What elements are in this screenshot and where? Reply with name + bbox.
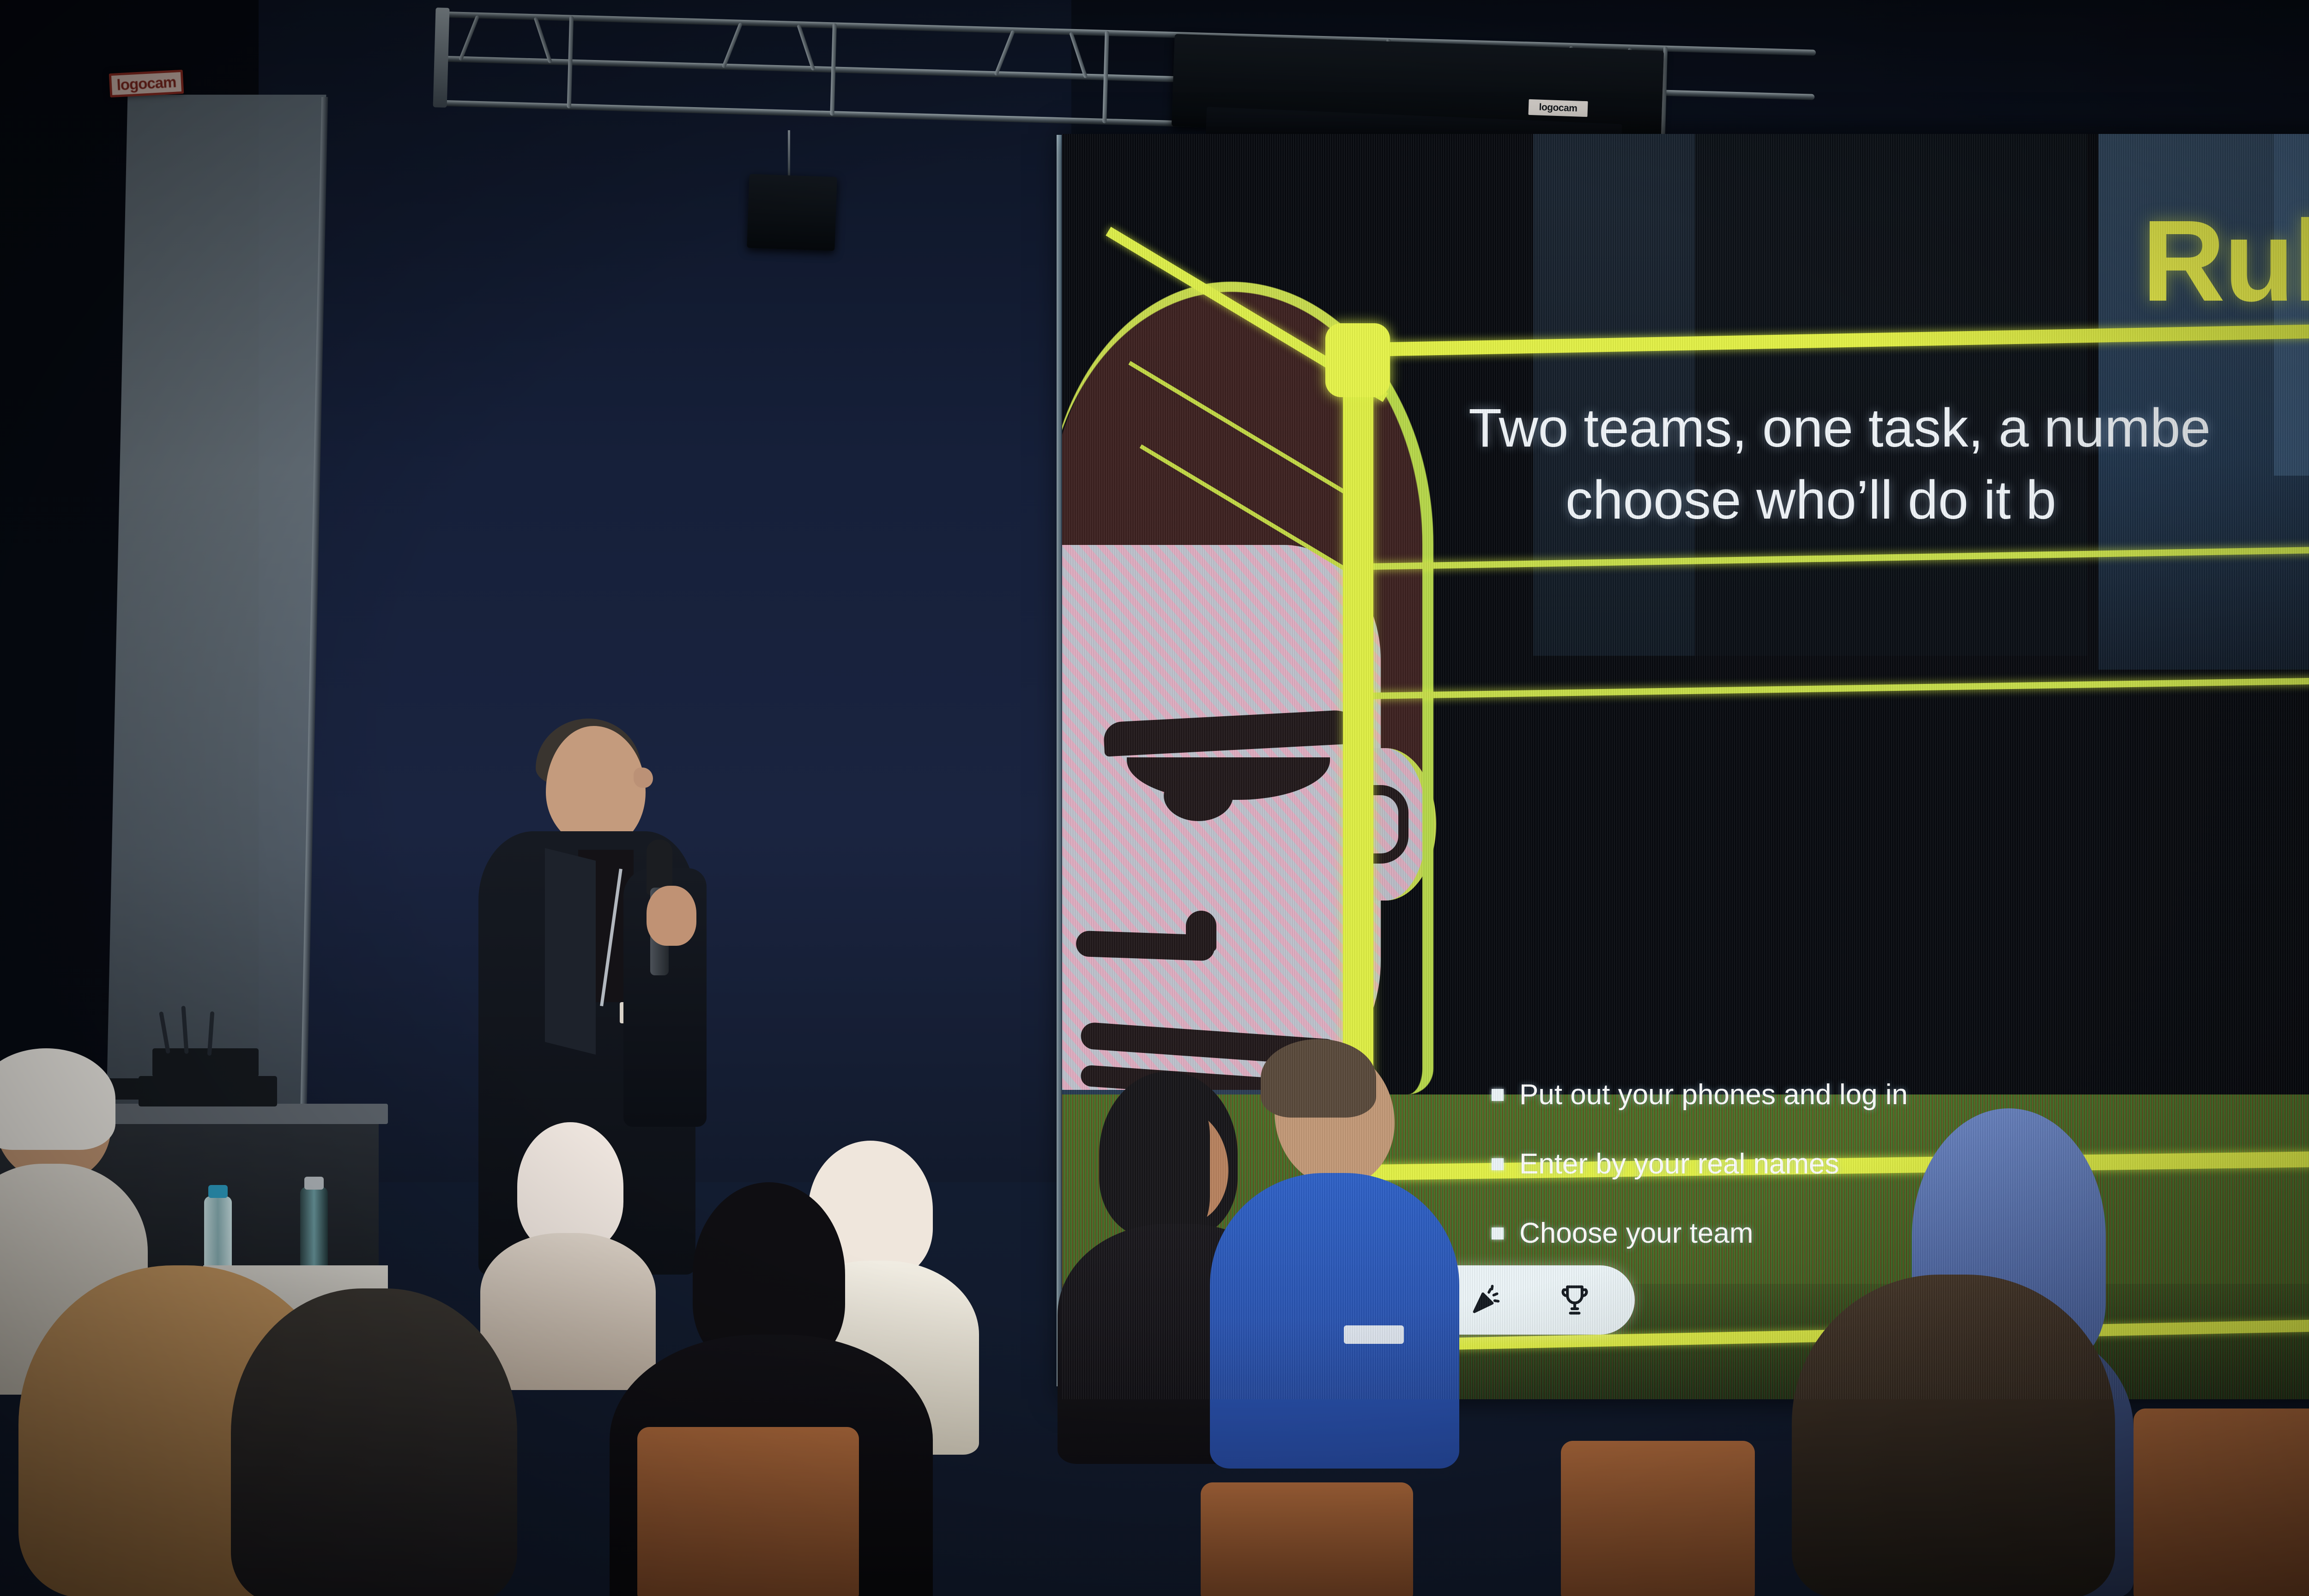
truss-diagonal [533, 17, 552, 63]
auditorium-chair [637, 1427, 859, 1596]
presenter-lapel [545, 848, 596, 1054]
auditorium-chair [1201, 1482, 1413, 1596]
keffiyeh-headwear [0, 1048, 115, 1150]
light-hanger [788, 130, 790, 181]
auditorium-chair [2134, 1409, 2309, 1596]
slide-subtitle-line-1: Two teams, one task, a numbe [1469, 398, 2211, 459]
hoodie-logo [1344, 1325, 1404, 1344]
truss-diagonal [797, 24, 815, 71]
ring-rope-top [1367, 323, 2309, 357]
bullet-square-icon [1492, 1158, 1504, 1170]
logocam-fixture-tag: logocam [1528, 99, 1588, 117]
audience-hair [1261, 1039, 1376, 1118]
presenter-nose [634, 768, 653, 788]
bullet-square-icon [1492, 1089, 1504, 1101]
audience-member-blue-hoodie [1191, 1039, 1450, 1464]
slide-bullet-list: Put out your phones and log in Enter by … [1492, 1070, 1908, 1278]
list-item: Put out your phones and log in [1492, 1070, 1908, 1119]
logocam-wall-sign-text: logocam [116, 73, 177, 94]
list-item: Choose your team [1492, 1209, 1908, 1258]
ring-rope-diagonal-thin [1140, 444, 1364, 581]
glass-bottle-cap [304, 1177, 324, 1190]
ring-rope-lower [1367, 677, 2309, 699]
trophy-icon[interactable] [1557, 1282, 1592, 1318]
audience-head-silhouette [231, 1288, 517, 1596]
slide-subtitle: Two teams, one task, a numbe choose who’… [1469, 393, 2309, 537]
bullet-square-icon [1492, 1227, 1504, 1239]
ring-corner-post-cap [1325, 323, 1390, 397]
stage-light-fixture [747, 174, 837, 251]
bullet-text: Enter by your real names [1519, 1150, 1839, 1179]
truss-diagonal [722, 22, 743, 68]
audience-member-bald [231, 1288, 517, 1596]
conference-room-photo: logocam logocam [0, 0, 2309, 1596]
presenter-hand [647, 886, 696, 946]
list-item: Enter by your real names [1492, 1140, 1908, 1189]
party-popper-icon[interactable] [1469, 1282, 1503, 1318]
audience-head-silhouette [1792, 1275, 2115, 1596]
truss-end-plate [433, 7, 450, 108]
ring-rope-middle [1367, 545, 2309, 570]
logocam-fixture-tag-text: logocam [1539, 102, 1578, 115]
audience-body-hoodie [1210, 1173, 1459, 1469]
audience-member-front-right [1792, 1275, 2115, 1596]
slide-subtitle-line-2: choose who’ll do it b [1469, 465, 2309, 537]
water-bottle-cap [208, 1185, 228, 1198]
truss-diagonal [994, 30, 1015, 76]
slide-title: Rules [2142, 203, 2309, 319]
bullet-text: Choose your team [1519, 1219, 1753, 1248]
bullet-text: Put out your phones and log in [1519, 1081, 1908, 1109]
truss-diagonal [1069, 32, 1088, 79]
truss-diagonal [459, 15, 480, 61]
logocam-wall-sign: logocam [109, 70, 184, 97]
wall-pillar [105, 95, 326, 1171]
auditorium-chair [1561, 1441, 1755, 1596]
